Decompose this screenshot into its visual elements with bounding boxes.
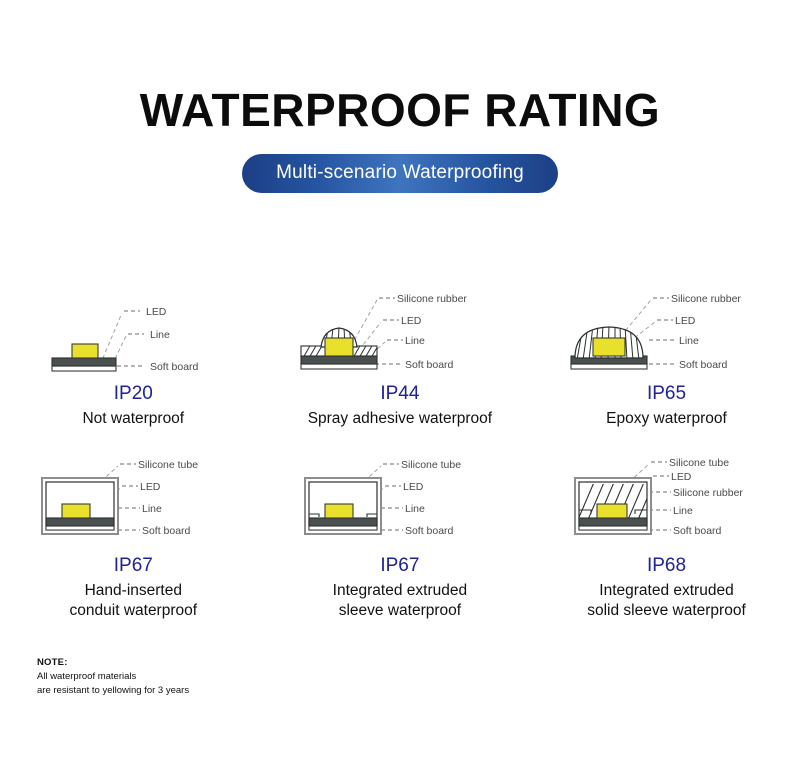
callout-label-ip68-3: Line xyxy=(673,506,693,517)
rating-card-ip68: Silicone tube LED Silicone rubber Line S… xyxy=(533,452,800,622)
callout-label-ip65-1: LED xyxy=(675,316,696,327)
ip-code-ip65: IP65 xyxy=(533,382,800,407)
diagram-ip68-svg: Silicone tube LED Silicone rubber Line S… xyxy=(533,452,800,552)
diagram-ip20-svg: LED Line Soft board xyxy=(0,280,267,380)
callout-label-ip67hand-1: LED xyxy=(140,482,161,493)
callout-label-ip67hand-3: Soft board xyxy=(142,526,191,537)
callout-label-ip20-1: Line xyxy=(150,330,170,341)
subtitle-badge-container: Multi-scenario Waterproofing xyxy=(0,154,800,193)
diagram-ip20: LED Line Soft board xyxy=(0,280,267,380)
callout-label-ip68-2: Silicone rubber xyxy=(673,488,743,499)
callout-label-ip68-0: Silicone tube xyxy=(669,458,729,469)
diagram-ip67-hand-svg: Silicone tube LED Line Soft board xyxy=(0,452,267,552)
ip-description-ip67-hand: Hand-inserted conduit waterproof xyxy=(0,581,267,622)
ip-description-ip67-sleeve: Integrated extruded sleeve waterproof xyxy=(267,581,534,622)
rating-grid: LED Line Soft board IP20 Not waterproof xyxy=(0,280,800,622)
rating-card-ip65: Silicone rubber LED Line Soft board IP65… xyxy=(533,280,800,429)
diagram-ip65: Silicone rubber LED Line Soft board xyxy=(533,280,800,380)
callout-label-ip44-0: Silicone rubber xyxy=(397,294,467,305)
rating-row-bottom: Silicone tube LED Line Soft board IP67 H… xyxy=(0,452,800,622)
ip-description-ip44: Spray adhesive waterproof xyxy=(267,409,534,429)
note-title: NOTE: xyxy=(37,656,357,670)
ip-description-ip65: Epoxy waterproof xyxy=(533,409,800,429)
callout-label-ip67hand-0: Silicone tube xyxy=(138,460,198,471)
diagram-ip65-svg: Silicone rubber LED Line Soft board xyxy=(533,280,800,380)
callout-label-ip44-3: Soft board xyxy=(405,360,454,371)
note-line-1: All waterproof materials xyxy=(37,670,357,684)
rating-card-ip44: Silicone rubber LED Line Soft board IP44… xyxy=(267,280,534,429)
diagram-ip68: Silicone tube LED Silicone rubber Line S… xyxy=(533,452,800,552)
ip-description-ip68: Integrated extruded solid sleeve waterpr… xyxy=(533,581,800,622)
rating-row-top: LED Line Soft board IP20 Not waterproof xyxy=(0,280,800,429)
callout-label-ip68-4: Soft board xyxy=(673,526,722,537)
page-title: WATERPROOF RATING xyxy=(0,86,800,134)
note-block: NOTE: All waterproof materials are resis… xyxy=(37,656,357,697)
callout-label-ip67sleeve-0: Silicone tube xyxy=(401,460,461,471)
ip-description-ip20: Not waterproof xyxy=(0,409,267,429)
page-root: WATERPROOF RATING Multi-scenario Waterpr… xyxy=(0,0,800,783)
note-line-2: are resistant to yellowing for 3 years xyxy=(37,684,357,698)
diagram-ip67-sleeve-svg: Silicone tube LED Line Soft board xyxy=(267,452,534,552)
ip-code-ip67-hand: IP67 xyxy=(0,554,267,579)
diagram-ip67-hand: Silicone tube LED Line Soft board xyxy=(0,452,267,552)
callout-label-ip65-2: Line xyxy=(679,336,699,347)
rating-card-ip20: LED Line Soft board IP20 Not waterproof xyxy=(0,280,267,429)
ip-code-ip20: IP20 xyxy=(0,382,267,407)
callout-label-ip68-1: LED xyxy=(671,472,692,483)
rating-card-ip67-sleeve: Silicone tube LED Line Soft board IP67 I… xyxy=(267,452,534,622)
callout-label-ip65-0: Silicone rubber xyxy=(671,294,741,305)
ip-code-ip67-sleeve: IP67 xyxy=(267,554,534,579)
callout-label-ip65-3: Soft board xyxy=(679,360,728,371)
callout-label-ip67sleeve-1: LED xyxy=(403,482,424,493)
callout-label-ip20-2: Soft board xyxy=(150,362,199,373)
header: WATERPROOF RATING Multi-scenario Waterpr… xyxy=(0,86,800,193)
diagram-ip67-sleeve: Silicone tube LED Line Soft board xyxy=(267,452,534,552)
callout-label-ip20-0: LED xyxy=(146,307,167,318)
ip-code-ip44: IP44 xyxy=(267,382,534,407)
callout-label-ip44-2: Line xyxy=(405,336,425,347)
subtitle-badge: Multi-scenario Waterproofing xyxy=(242,154,558,193)
diagram-ip44-svg: Silicone rubber LED Line Soft board xyxy=(267,280,534,380)
ip-code-ip68: IP68 xyxy=(533,554,800,579)
callout-label-ip67hand-2: Line xyxy=(142,504,162,515)
callout-label-ip67sleeve-3: Soft board xyxy=(405,526,454,537)
callout-label-ip44-1: LED xyxy=(401,316,422,327)
diagram-ip44: Silicone rubber LED Line Soft board xyxy=(267,280,534,380)
rating-card-ip67-hand: Silicone tube LED Line Soft board IP67 H… xyxy=(0,452,267,622)
callout-label-ip67sleeve-2: Line xyxy=(405,504,425,515)
